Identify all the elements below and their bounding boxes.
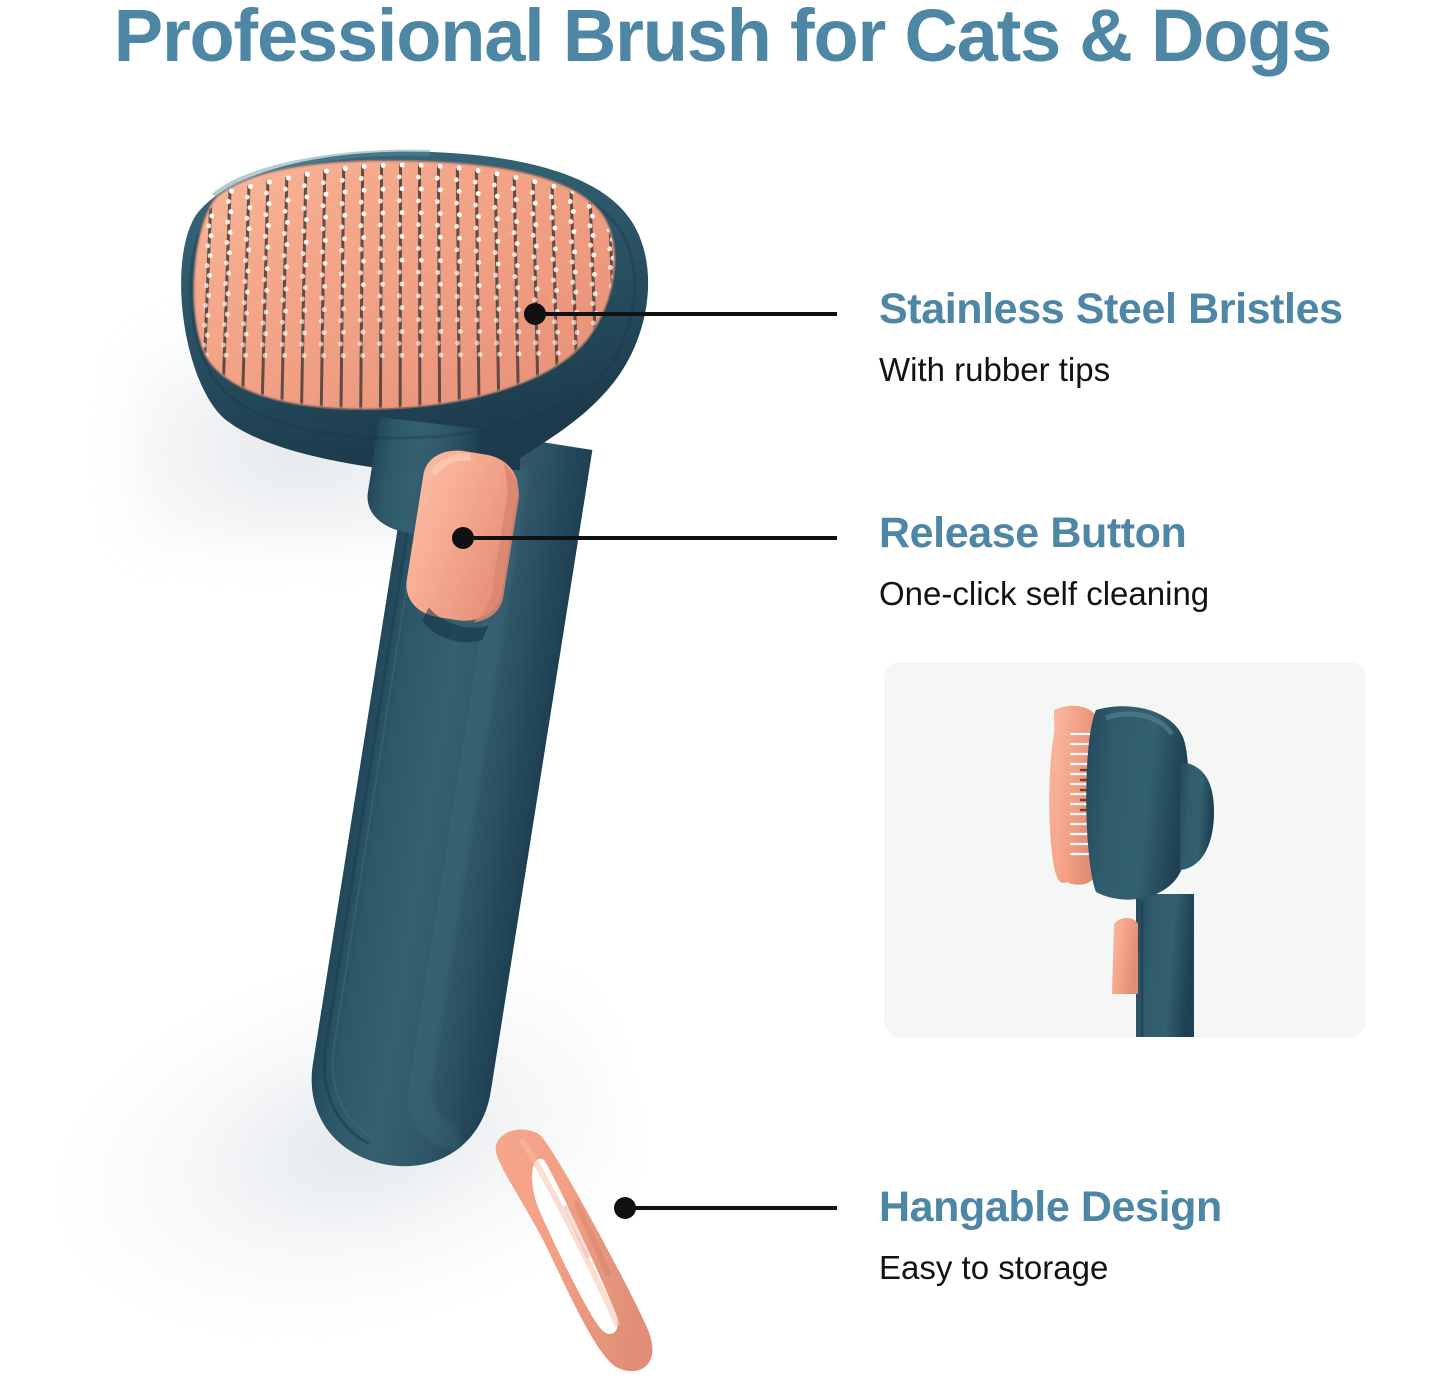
callout-release-subtext: One-click self cleaning <box>879 577 1209 610</box>
callout-bristles-subtext: With rubber tips <box>879 353 1343 386</box>
side-view-illustration <box>884 662 1366 1037</box>
callout-hangable-heading: Hangable Design <box>879 1186 1222 1229</box>
product-infographic: Professional Brush for Cats & Dogs <box>0 0 1445 1378</box>
callout-release-heading: Release Button <box>879 512 1209 555</box>
leader-line-hangable <box>625 1206 837 1210</box>
leader-line-bristles <box>535 312 837 316</box>
callout-release: Release Button One-click self cleaning <box>879 512 1209 610</box>
callout-hangable: Hangable Design Easy to storage <box>879 1186 1222 1284</box>
brush-svg <box>0 0 900 1378</box>
side-view-inset <box>884 662 1366 1037</box>
callout-bristles: Stainless Steel Bristles With rubber tip… <box>879 288 1343 386</box>
leader-line-release <box>463 536 837 540</box>
callout-bristles-heading: Stainless Steel Bristles <box>879 288 1343 331</box>
callout-hangable-subtext: Easy to storage <box>879 1251 1222 1284</box>
hanging-loop <box>496 1130 653 1372</box>
product-illustration <box>0 0 900 1378</box>
